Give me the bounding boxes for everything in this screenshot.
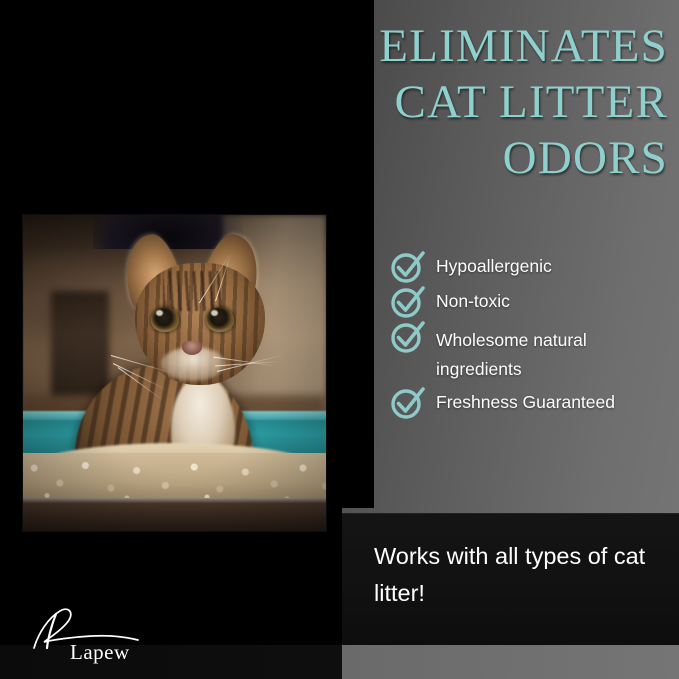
list-item: Non-toxic [391,287,676,318]
check-circle-icon [391,288,421,318]
callout-box: Works with all types of cat litter! [342,513,679,645]
headline-line-3: ODORS [248,130,668,186]
kitten-litter-box-photo [23,215,326,531]
check-circle-icon [391,253,421,283]
photo-vignette [23,215,326,531]
list-item: Freshness Guaranteed [391,388,676,419]
list-item: Hypoallergenic [391,252,676,283]
brand-logo: Lapew [26,604,156,666]
check-circle-icon [391,323,421,353]
list-item-label: Freshness Guaranteed [436,388,615,413]
logo-wordmark: Lapew [70,640,130,665]
product-poster: ELIMINATES CAT LITTER ODORS [0,0,679,679]
headline: ELIMINATES CAT LITTER ODORS [248,18,668,186]
headline-line-1: ELIMINATES [248,18,668,74]
list-item-label: Non-toxic [436,287,510,312]
callout-text: Works with all types of cat litter! [374,538,654,612]
list-item-label: Wholesome natural ingredients [436,322,676,384]
feature-list: Hypoallergenic Non-toxic Wholesome natur… [391,252,676,423]
background-bottom-strip-right [342,645,679,679]
headline-line-2: CAT LITTER [248,74,668,130]
list-item: Wholesome natural ingredients [391,322,676,384]
list-item-label: Hypoallergenic [436,252,552,277]
check-circle-icon [391,389,421,419]
